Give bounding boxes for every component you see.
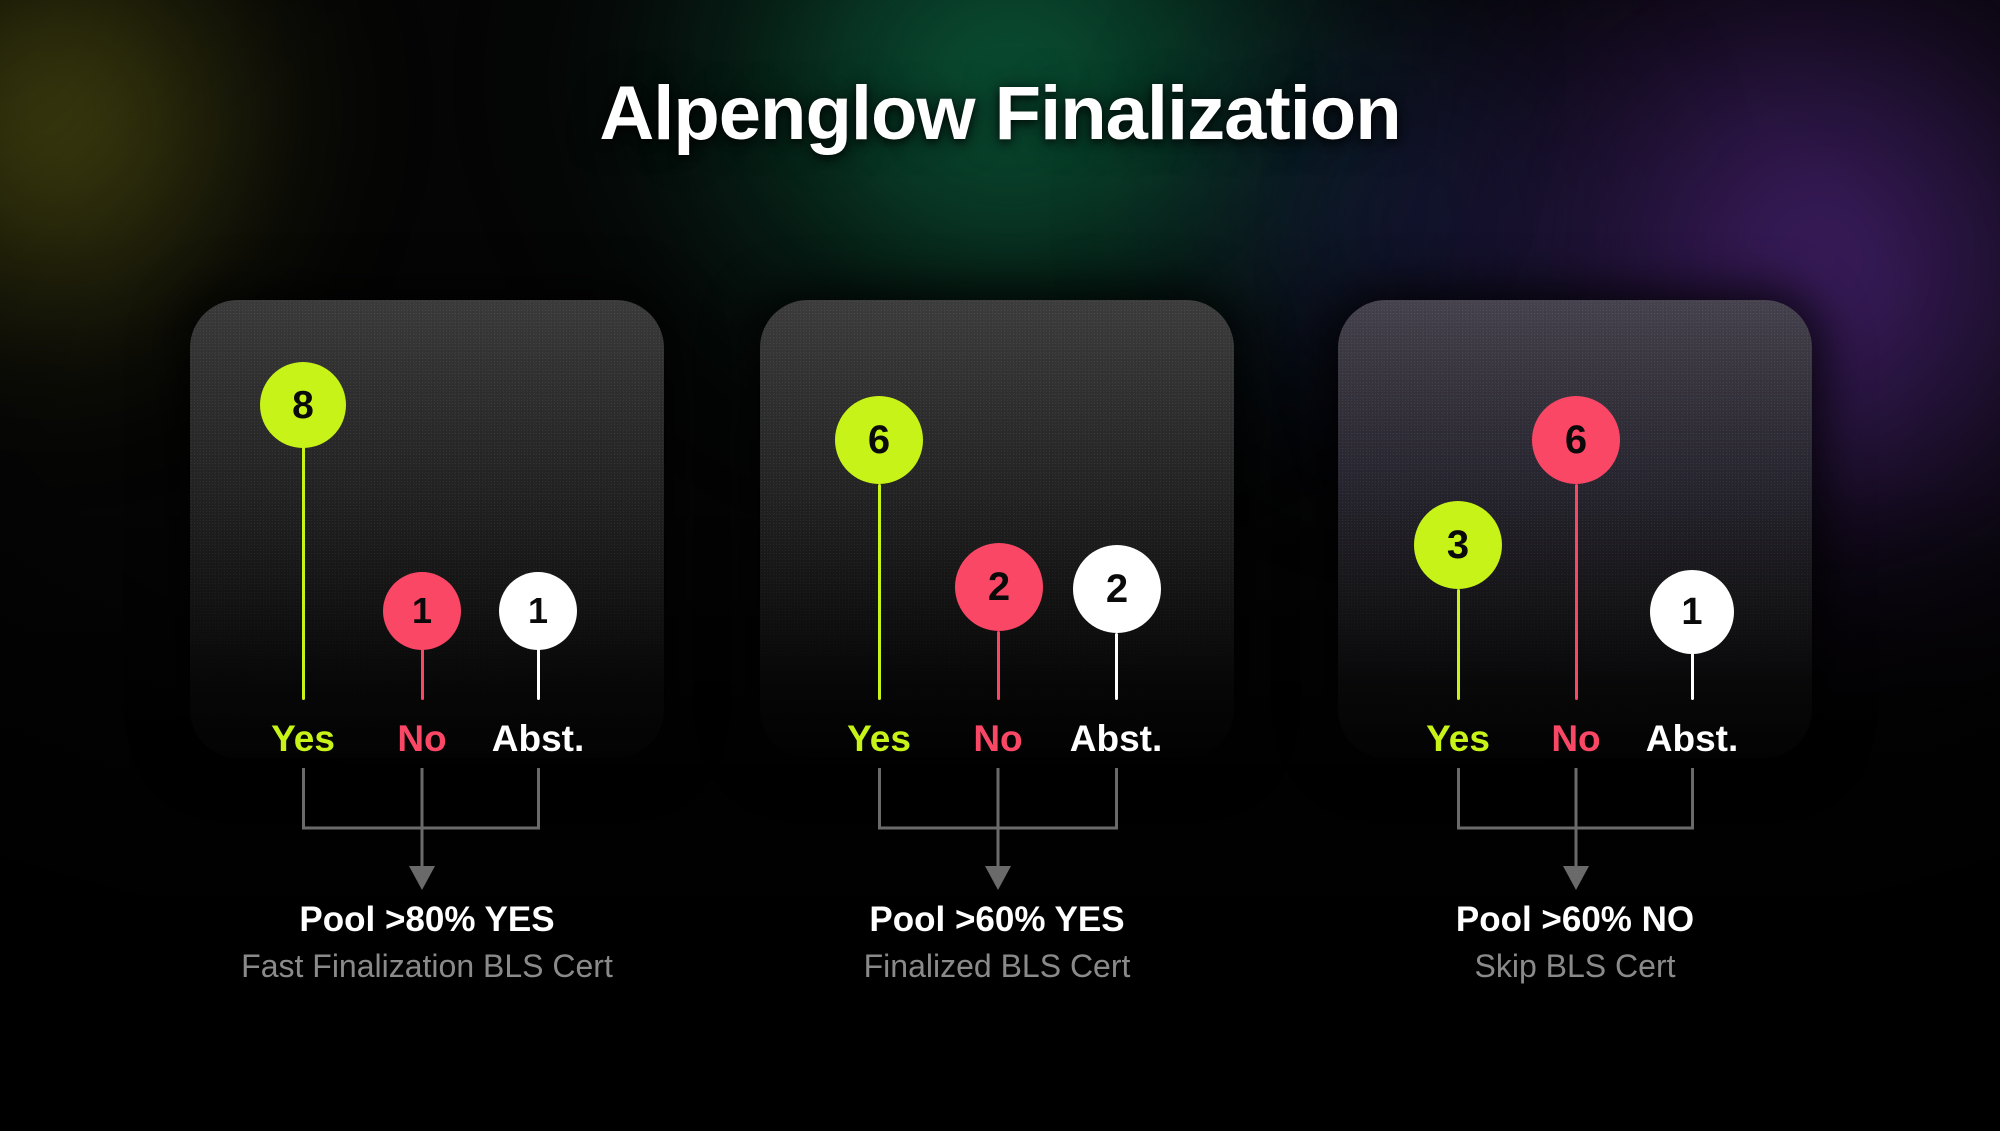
lollipop-stem-yes bbox=[1457, 589, 1460, 700]
axis-label-abstain: Abst. bbox=[1646, 718, 1739, 760]
bracket-arrowhead bbox=[985, 866, 1011, 890]
axis-label-yes: Yes bbox=[271, 718, 335, 760]
axis-label-abstain: Abst. bbox=[492, 718, 585, 760]
vote-panel-fast-finalization: 8 1 1 Yes No Abst. Pool >80% YES Fas bbox=[190, 0, 664, 1131]
slide-canvas: Alpenglow Finalization 8 1 1 Yes No bbox=[0, 0, 2000, 1131]
conclusion-heading: Pool >80% YES bbox=[190, 900, 664, 940]
bracket-arrowhead bbox=[1563, 866, 1589, 890]
lollipop-stem-no bbox=[997, 631, 1000, 700]
lollipop-bubble-no[interactable]: 2 bbox=[955, 543, 1043, 631]
bubble-value: 2 bbox=[1106, 569, 1128, 609]
lollipop-stem-yes bbox=[302, 446, 305, 700]
bubble-value: 1 bbox=[528, 593, 548, 629]
bubble-value: 6 bbox=[1565, 420, 1587, 460]
lollipop-bubble-yes[interactable]: 6 bbox=[835, 396, 923, 484]
axis-label-no: No bbox=[397, 718, 446, 760]
lollipop-stem-abstain bbox=[537, 648, 540, 700]
vote-panel-finalized: 6 2 2 Yes No Abst. Pool >60% YES Fin bbox=[760, 0, 1234, 1131]
conclusion-heading: Pool >60% YES bbox=[760, 900, 1234, 940]
vote-panel-skip: 3 6 1 Yes No Abst. Pool >60% NO Skip bbox=[1338, 0, 1812, 1131]
lollipop-bubble-abstain[interactable]: 1 bbox=[499, 572, 577, 650]
summary-bracket-connector bbox=[1338, 758, 1812, 898]
conclusion-subtext: Skip BLS Cert bbox=[1338, 948, 1812, 985]
lollipop-stem-no bbox=[1575, 484, 1578, 700]
lollipop-bubble-abstain[interactable]: 1 bbox=[1650, 570, 1734, 654]
lollipop-bubble-no[interactable]: 1 bbox=[383, 572, 461, 650]
conclusion-subtext: Fast Finalization BLS Cert bbox=[190, 948, 664, 985]
card-grain-texture bbox=[190, 300, 664, 758]
lollipop-bubble-abstain[interactable]: 2 bbox=[1073, 545, 1161, 633]
page-title: Alpenglow Finalization bbox=[0, 70, 2000, 157]
lollipop-stem-abstain bbox=[1691, 652, 1694, 700]
conclusion-subtext: Finalized BLS Cert bbox=[760, 948, 1234, 985]
summary-bracket-connector bbox=[760, 758, 1234, 898]
bubble-value: 1 bbox=[412, 593, 432, 629]
lollipop-bubble-yes[interactable]: 3 bbox=[1414, 501, 1502, 589]
bracket-arrowhead bbox=[409, 866, 435, 890]
conclusion-heading: Pool >60% NO bbox=[1338, 900, 1812, 940]
axis-label-abstain: Abst. bbox=[1070, 718, 1163, 760]
bubble-value: 3 bbox=[1447, 525, 1469, 565]
axis-label-yes: Yes bbox=[1426, 718, 1490, 760]
bubble-value: 2 bbox=[988, 567, 1010, 607]
axis-label-no: No bbox=[1551, 718, 1600, 760]
lollipop-stem-yes bbox=[878, 484, 881, 700]
bubble-value: 6 bbox=[868, 420, 890, 460]
vote-card bbox=[190, 300, 664, 758]
lollipop-bubble-yes[interactable]: 8 bbox=[260, 362, 346, 448]
lollipop-stem-no bbox=[421, 648, 424, 700]
summary-bracket-connector bbox=[190, 758, 664, 898]
axis-label-yes: Yes bbox=[847, 718, 911, 760]
bubble-value: 1 bbox=[1681, 593, 1702, 631]
lollipop-stem-abstain bbox=[1115, 633, 1118, 700]
lollipop-bubble-no[interactable]: 6 bbox=[1532, 396, 1620, 484]
axis-label-no: No bbox=[973, 718, 1022, 760]
bubble-value: 8 bbox=[292, 386, 314, 425]
